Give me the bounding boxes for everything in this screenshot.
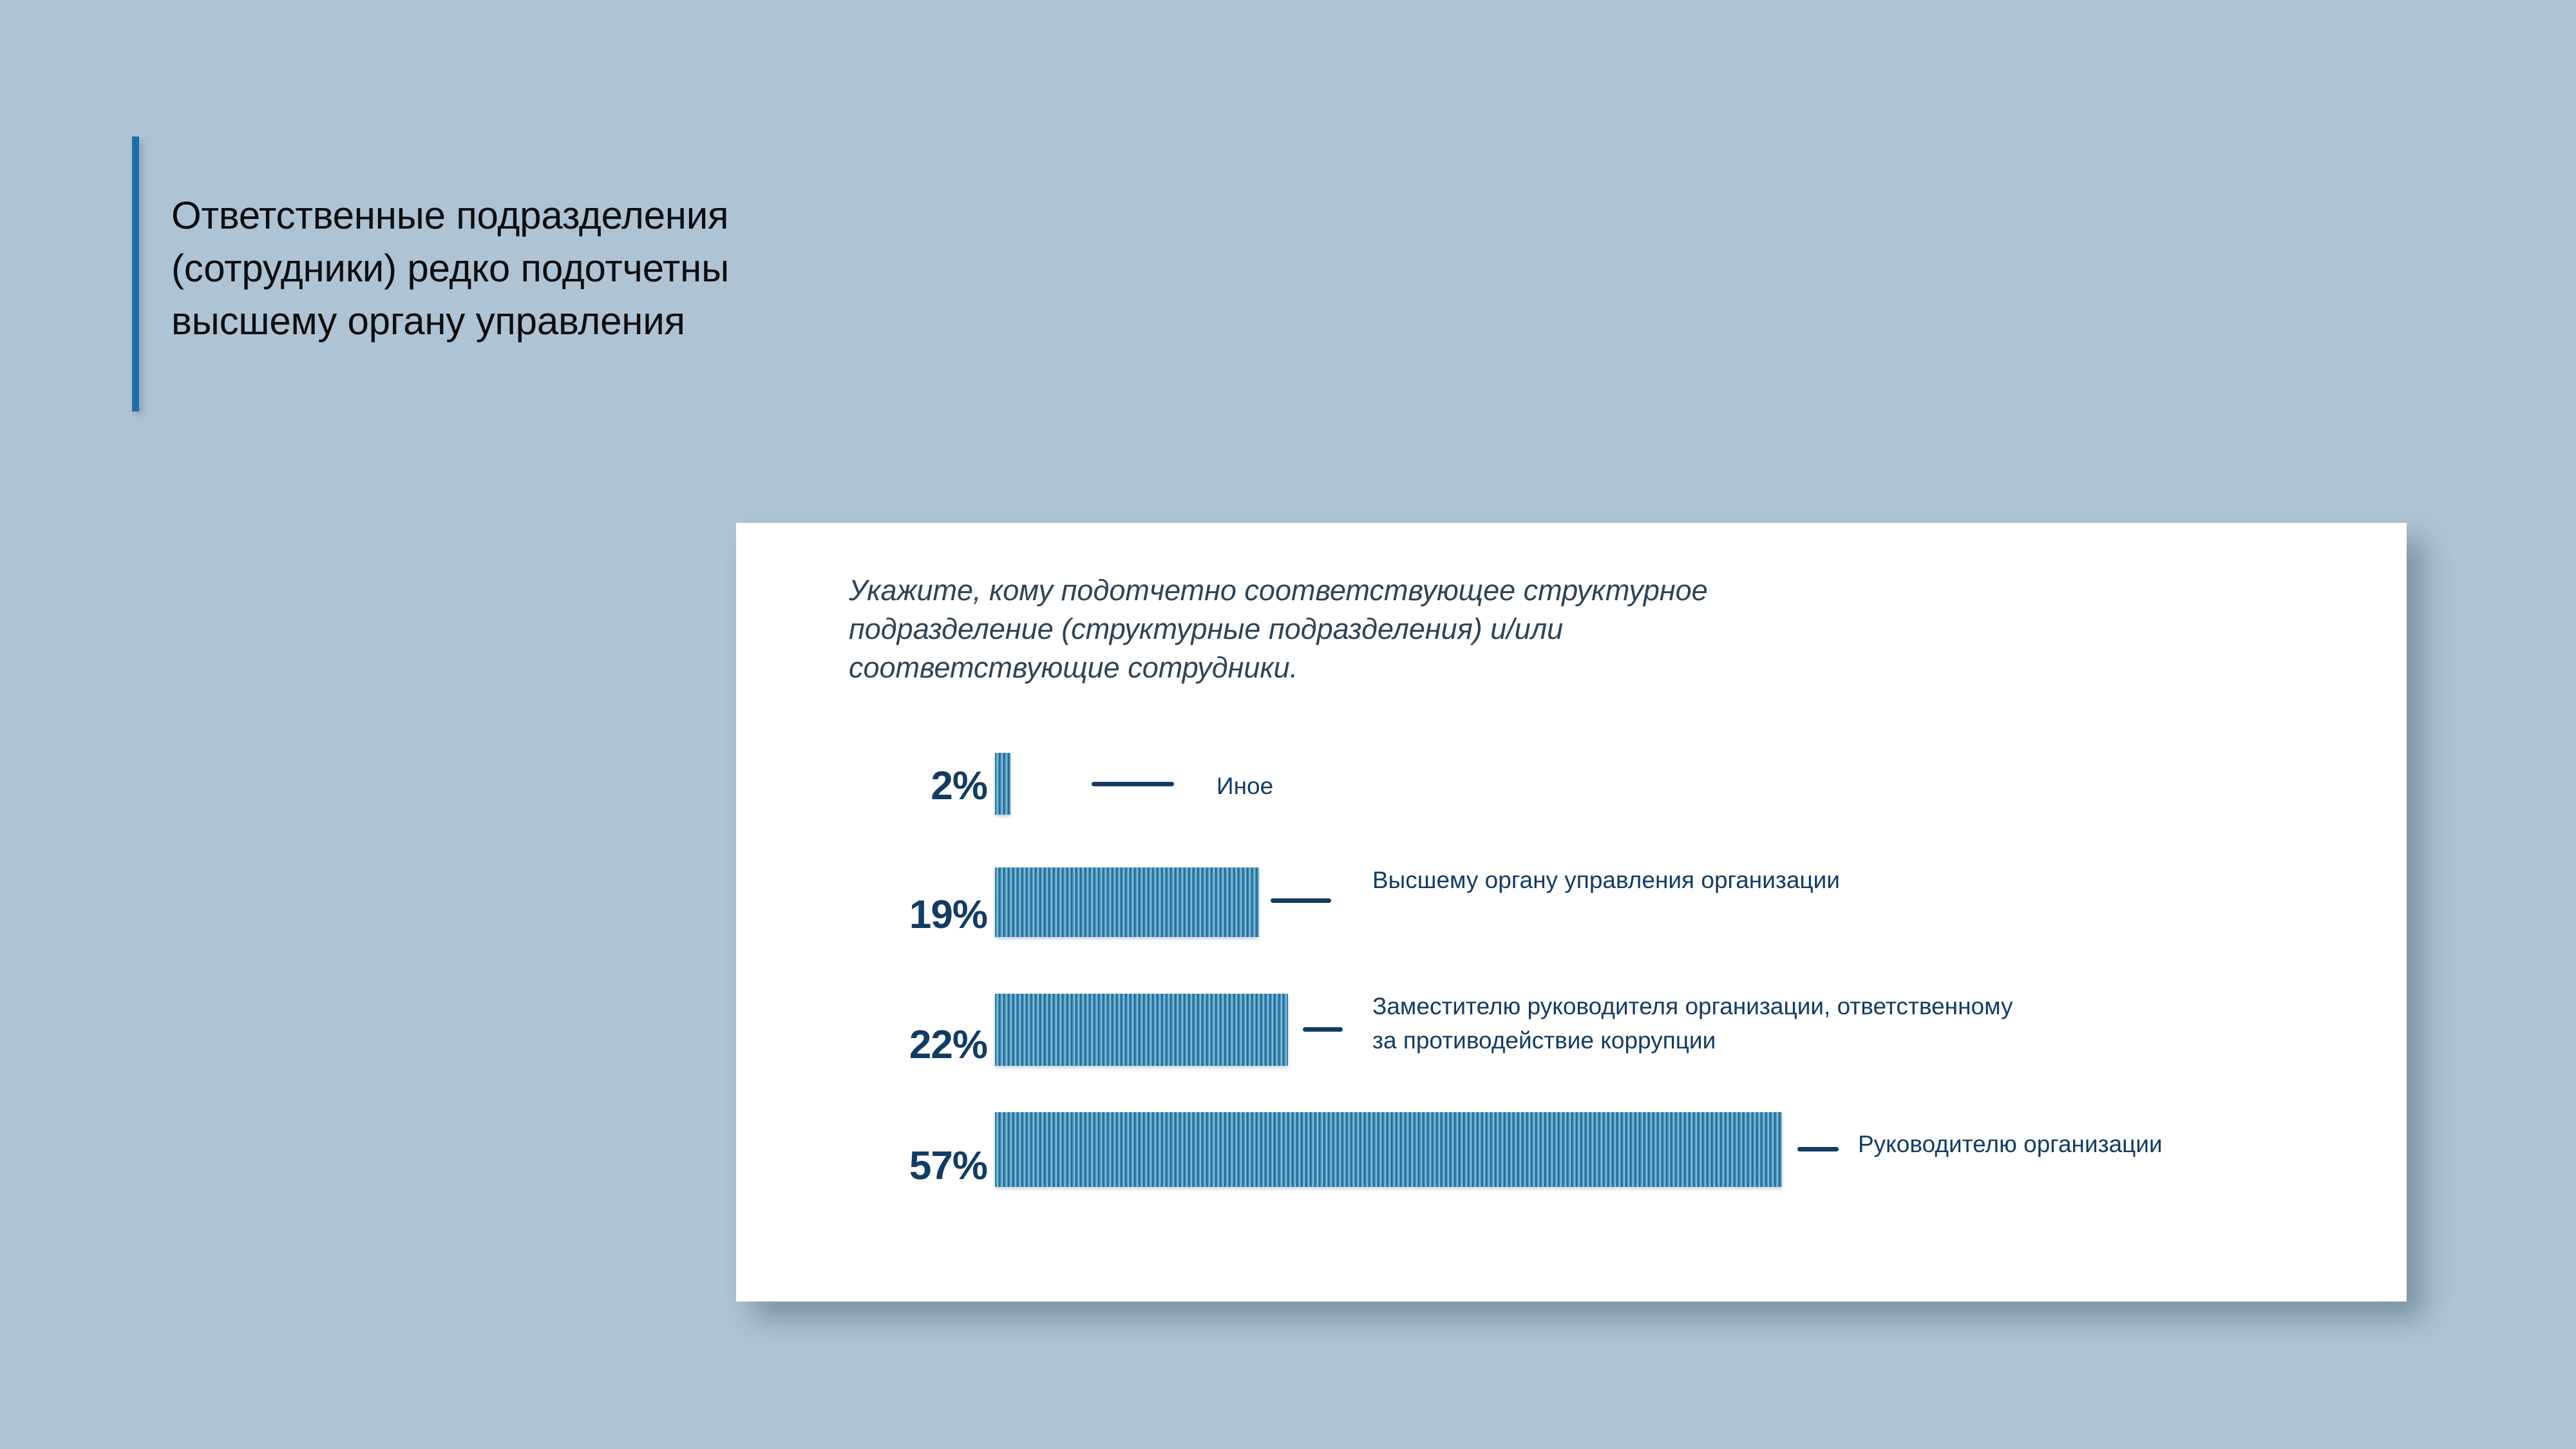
bar-container [995, 867, 1259, 937]
bar-category-label-line-1: Иное [1217, 770, 1273, 804]
bar-category-label: Высшему органу управления организации [1372, 864, 1840, 898]
bar-category-label: Заместителю руководителя организации, от… [1372, 990, 2012, 1057]
bar-value-label: 22% [839, 1022, 987, 1068]
slide-title-block: Ответственные подразделения (сотрудники)… [132, 137, 1034, 412]
bar-category-label-line-1: Высшему органу управления организации [1372, 864, 1840, 898]
leader-line [1271, 898, 1331, 903]
chart-card: Укажите, кому подотчетно соответствующее… [736, 523, 2407, 1302]
bar-segment [995, 867, 1259, 937]
bar-category-label: Иное [1217, 770, 1273, 804]
leader-line [1303, 1027, 1343, 1032]
leader-line [1797, 1147, 1839, 1151]
page-title-line-3: высшему органу управления [171, 295, 729, 348]
bar-segment [995, 994, 1288, 1066]
bar-category-label-line-1: Руководителю организации [1858, 1128, 2163, 1162]
page-title-line-1: Ответственные подразделения [171, 189, 729, 242]
bar-segment [995, 753, 1010, 815]
chart-row: 19% Высшему органу управления организаци… [736, 867, 2407, 990]
chart-title-line-3: соответствующие сотрудники. [849, 649, 2195, 687]
bar-value-label: 19% [839, 892, 987, 938]
bar-category-label-line-2: за противодействие коррупции [1372, 1024, 2012, 1058]
chart-title-line-2: подразделение (структурные подразделения… [849, 610, 2195, 649]
chart-title: Укажите, кому подотчетно соответствующее… [849, 571, 2195, 687]
chart-title-line-1: Укажите, кому подотчетно соответствующее… [849, 571, 2195, 610]
page-title: Ответственные подразделения (сотрудники)… [139, 137, 729, 412]
bar-category-label: Руководителю организации [1858, 1128, 2163, 1162]
chart-row: 2% Иное [736, 745, 2407, 867]
bar-container [995, 753, 1010, 815]
bar-category-label-line-1: Заместителю руководителя организации, от… [1372, 990, 2012, 1024]
bar-value-label: 57% [839, 1143, 987, 1189]
bar-value-label: 2% [839, 763, 987, 809]
chart-row: 22% Заместителю руководителя организации… [736, 990, 2407, 1112]
bar-segment [995, 1112, 1782, 1187]
title-accent-bar [132, 137, 139, 412]
bar-container [995, 1112, 1782, 1187]
page-title-line-2: (сотрудники) редко подотчетны [171, 242, 729, 295]
bar-chart: 2% Иное 19% Высшему органу управления ор… [736, 745, 2407, 1235]
leader-line [1092, 782, 1174, 786]
chart-row: 57% Руководителю организации [736, 1112, 2407, 1235]
bar-container [995, 994, 1288, 1066]
